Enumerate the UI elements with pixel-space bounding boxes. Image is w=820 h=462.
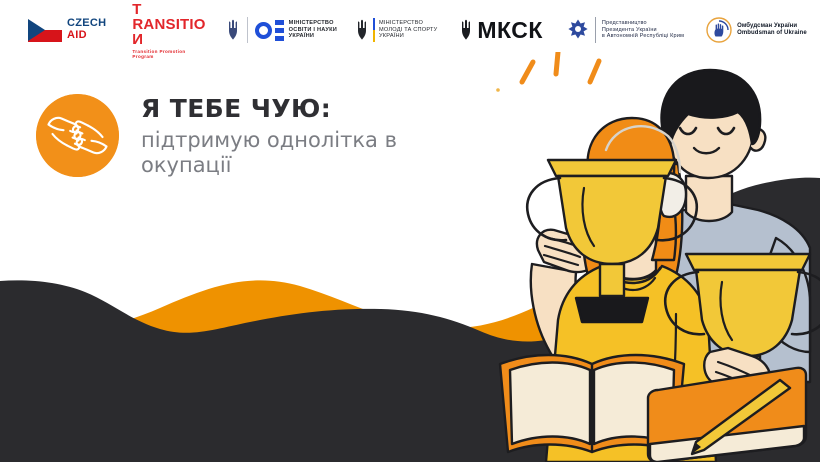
boy-neck — [686, 176, 732, 221]
czech-aid-line2: AID — [67, 30, 106, 42]
crimea-line1: Представництво — [602, 20, 684, 27]
ombudsman-line1: Омбудсман України — [737, 23, 807, 30]
page-subtitle: підтримую однолітка в окупації — [141, 128, 421, 178]
page-title: Я ТЕБЕ ЧУЮ: — [141, 96, 421, 121]
czech-aid-label: CZECH AID — [67, 18, 106, 42]
czech-flag-icon — [28, 19, 62, 42]
mon-label: МІНІСТЕРСТВО ОСВІТИ І НАУКИ УКРАЇНИ — [289, 20, 337, 40]
partner-logo-strip: CZECH AID TTRANSITIONRANSITION Transitio… — [0, 0, 820, 60]
ombudsman-line2: Ombudsman of Ukraine — [737, 30, 807, 37]
logo-ombudsman-of-ukraine: Омбудсман України Ombudsman of Ukraine — [706, 10, 807, 50]
transition-title: TTRANSITIONRANSITION — [132, 2, 205, 47]
logo-crimea-representative: Представництво Президента України в Авто… — [567, 10, 684, 50]
brand-text-block: Я ТЕБЕ ЧУЮ: підтримую однолітка в окупац… — [141, 94, 421, 178]
mon-line1: МІНІСТЕРСТВО — [289, 20, 337, 27]
mms-line1: МІНІСТЕРСТВО — [379, 20, 437, 27]
ombudsman-label: Омбудсман України Ombudsman of Ukraine — [737, 23, 807, 38]
logo-ministry-education-science: МІНІСТЕРСТВО ОСВІТИ І НАУКИ УКРАЇНИ — [226, 10, 337, 50]
logo-ministry-youth-sports: МІНІСТЕРСТВО МОЛОДІ ТА СПОРТУ УКРАЇНИ — [355, 10, 437, 50]
sparkle-dot — [496, 88, 500, 92]
ombudsman-hand-icon — [706, 17, 732, 43]
two-hands-icon — [36, 94, 119, 177]
two-teens-with-trophies-illustration — [480, 52, 820, 462]
crimea-line3: в Автономній Республіці Крим — [602, 33, 684, 40]
logo-mksk: МКСК — [459, 10, 543, 50]
poster-canvas: CZECH AID TTRANSITIONRANSITION Transitio… — [0, 0, 820, 462]
tryzub-icon — [355, 19, 369, 41]
mon-line3: УКРАЇНИ — [289, 33, 337, 40]
brand-block: Я ТЕБЕ ЧУЮ: підтримую однолітка в окупац… — [36, 94, 421, 178]
tryzub-icon — [459, 19, 473, 41]
mms-line3: УКРАЇНИ — [379, 33, 437, 40]
mksk-label: МКСК — [477, 17, 543, 44]
tryzub-icon — [226, 19, 240, 41]
mon-emblem-icon — [255, 20, 284, 41]
logo-transition-promotion-program: TTRANSITIONRANSITION Transition Promotio… — [132, 10, 205, 50]
transition-subtitle: Transition Promotion Program — [132, 49, 205, 59]
logo-czech-aid: CZECH AID — [28, 10, 106, 50]
crimea-emblem-icon — [567, 18, 589, 42]
mms-label: МІНІСТЕРСТВО МОЛОДІ ТА СПОРТУ УКРАЇНИ — [379, 20, 437, 40]
crimea-label: Представництво Президента України в Авто… — [602, 20, 684, 40]
